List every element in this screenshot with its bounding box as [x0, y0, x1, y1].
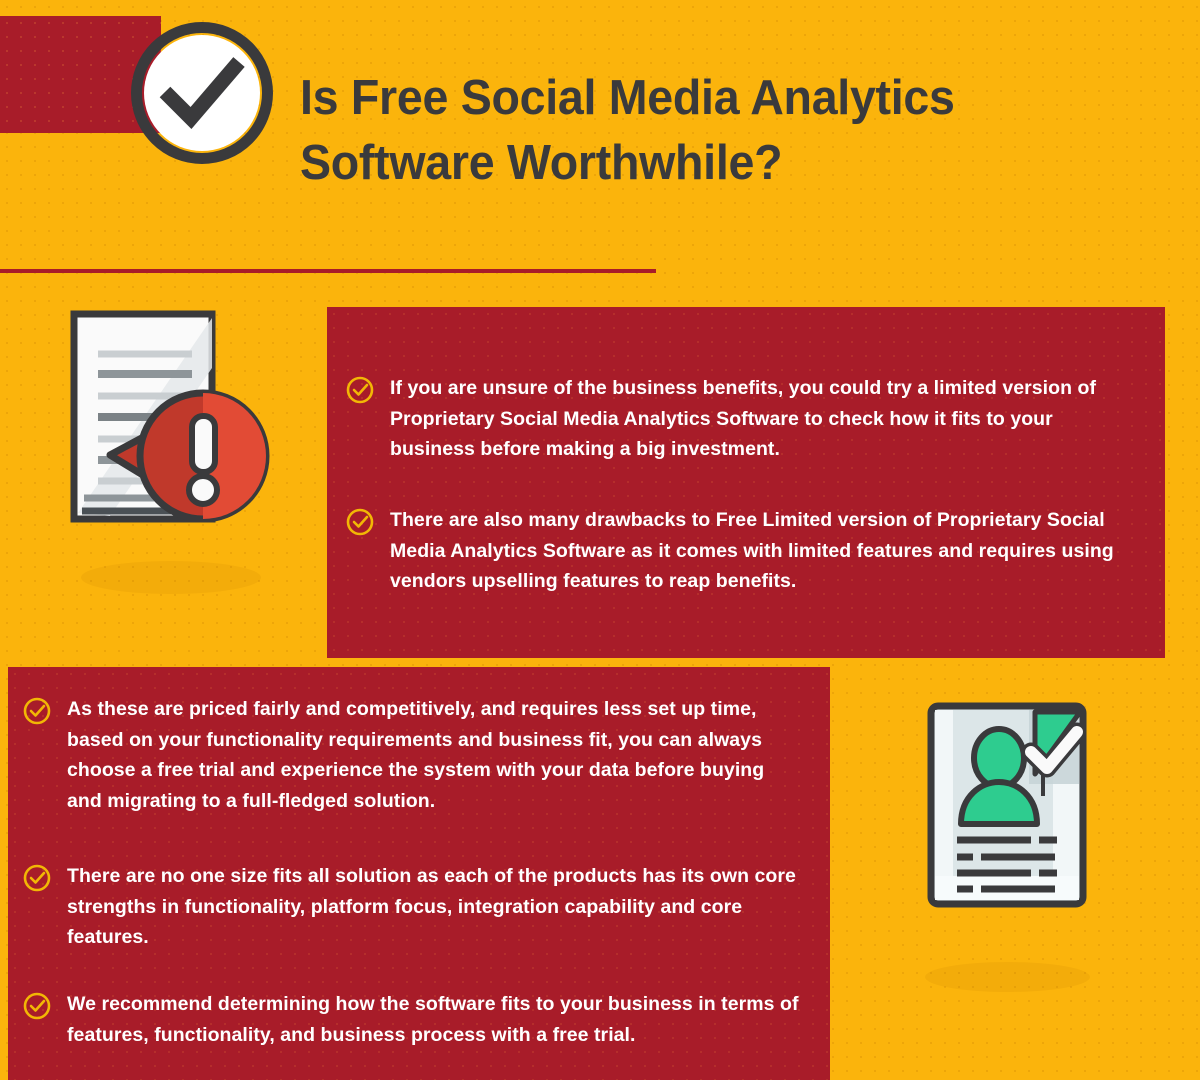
right-icon-shadow [925, 962, 1090, 992]
list-item-text: As these are priced fairly and competiti… [67, 694, 802, 816]
header-divider [0, 269, 656, 273]
list-item-text: There are also many drawbacks to Free Li… [390, 505, 1145, 597]
panel-bottom: As these are priced fairly and competiti… [8, 667, 830, 1080]
check-circle-outline-icon [22, 863, 52, 893]
check-circle-outline-icon [345, 507, 375, 537]
check-circle-outline-icon [345, 375, 375, 405]
page-title: Is Free Social Media Analytics Software … [300, 66, 1117, 196]
check-badge-checkmark [159, 52, 245, 134]
check-circle-icon [131, 22, 273, 164]
left-icon-shadow [81, 561, 261, 594]
list-item-text: We recommend determining how the softwar… [67, 989, 802, 1050]
panel-top: If you are unsure of the business benefi… [327, 307, 1165, 658]
list-item-text: If you are unsure of the business benefi… [390, 373, 1135, 465]
list-item: There are no one size fits all solution … [22, 861, 802, 953]
list-item: As these are priced fairly and competiti… [22, 694, 802, 816]
profile-document-check-icon [925, 700, 1095, 910]
list-item: There are also many drawbacks to Free Li… [345, 505, 1145, 597]
check-circle-outline-icon [22, 696, 52, 726]
list-item: We recommend determining how the softwar… [22, 989, 802, 1050]
list-item-text: There are no one size fits all solution … [67, 861, 802, 953]
check-circle-outline-icon [22, 991, 52, 1021]
document-alert-icon [68, 308, 283, 533]
list-item: If you are unsure of the business benefi… [345, 373, 1135, 465]
